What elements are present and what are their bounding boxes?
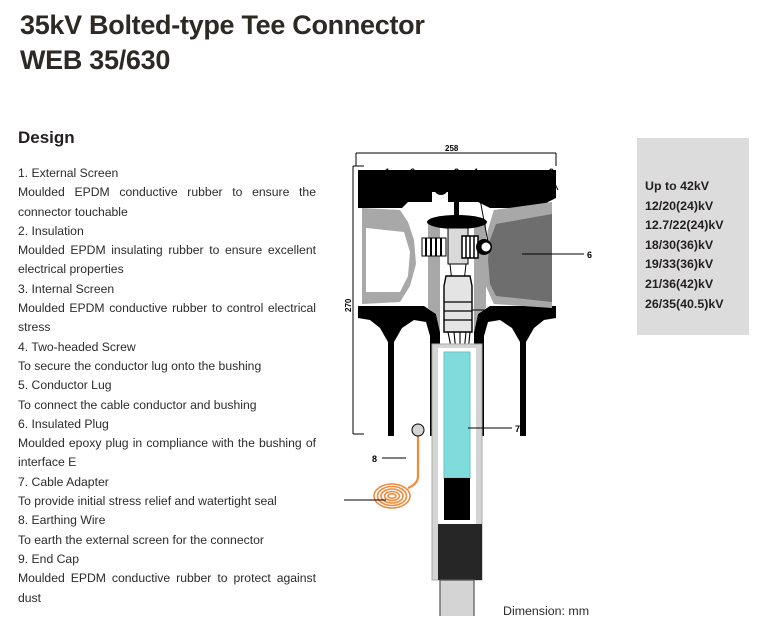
height-dimension-label: 270	[344, 298, 353, 312]
callout-8: 8	[372, 454, 377, 464]
earthing-wire-coil	[374, 484, 410, 508]
list-item: 8. Earthing Wire To earth the external s…	[18, 511, 316, 550]
voltage-rating: 21/36(42)kV	[645, 275, 749, 295]
cable-conductor-block	[444, 478, 470, 520]
datasheet-page: 35kV Bolted-type Tee Connector WEB 35/63…	[0, 0, 760, 634]
list-item-title: 5. Conductor Lug	[18, 376, 316, 395]
connector-cross-section-diagram: 258 270	[344, 136, 634, 616]
list-item-desc: Moulded EPDM conductive rubber to contro…	[18, 299, 316, 338]
title-line-1: 35kV Bolted-type Tee Connector	[20, 10, 425, 40]
callout-5: 5	[533, 306, 538, 316]
list-item: 5. Conductor Lug To connect the cable co…	[18, 376, 316, 415]
callout-1: 1	[385, 167, 390, 177]
cable-insulation-block	[438, 524, 482, 580]
voltage-rating: 12.7/22(24)kV	[645, 216, 749, 236]
voltage-rating: 19/33(36)kV	[645, 255, 749, 275]
callout-2: 2	[410, 167, 415, 177]
cable-sheath	[440, 580, 474, 616]
earthing-wire	[344, 424, 424, 508]
callout-6: 6	[587, 250, 592, 260]
list-item-title: 8. Earthing Wire	[18, 511, 316, 530]
list-item-desc: To provide initial stress relief and wat…	[18, 492, 316, 511]
list-item-title: 4. Two-headed Screw	[18, 338, 316, 357]
list-item-desc: To secure the conductor lug onto the bus…	[18, 357, 316, 376]
cable-core	[444, 352, 470, 478]
list-item: 6. Insulated Plug Moulded epoxy plug in …	[18, 415, 316, 473]
list-item-title: 2. Insulation	[18, 222, 316, 241]
list-item-title: 1. External Screen	[18, 164, 316, 183]
list-item-desc: Moulded EPDM conductive rubber to protec…	[18, 569, 316, 608]
list-item: 7. Cable Adapter To provide initial stre…	[18, 473, 316, 512]
callout-9: 9	[549, 167, 554, 177]
cable-assembly	[432, 344, 482, 616]
list-item: 1. External Screen Moulded EPDM conducti…	[18, 164, 316, 222]
design-list: 1. External Screen Moulded EPDM conducti…	[18, 164, 316, 608]
list-item-desc: To earth the external screen for the con…	[18, 531, 316, 550]
voltage-ratings-list: Up to 42kV 12/20(24)kV 12.7/22(24)kV 18/…	[645, 177, 749, 314]
void-left	[366, 228, 410, 292]
list-item-title: 7. Cable Adapter	[18, 473, 316, 492]
dimension-caption: Dimension: mm	[503, 604, 589, 618]
list-item: 9. End Cap Moulded EPDM conductive rubbe…	[18, 550, 316, 608]
voltage-heading: Up to 42kV	[645, 177, 749, 197]
list-item-desc: Moulded EPDM insulating rubber to ensure…	[18, 241, 316, 280]
design-heading: Design	[18, 128, 75, 148]
list-item: 2. Insulation Moulded EPDM insulating ru…	[18, 222, 316, 280]
voltage-rating: 12/20(24)kV	[645, 197, 749, 217]
screw-head-left	[434, 181, 448, 195]
title-line-2: WEB 35/630	[20, 43, 620, 78]
list-item-desc: Moulded EPDM conductive rubber to ensure…	[18, 183, 316, 222]
voltage-rating: 18/30(36)kV	[645, 236, 749, 256]
callout-3: 3	[454, 167, 459, 177]
callout-4: 4	[473, 167, 478, 177]
callout-7: 7	[515, 424, 520, 434]
list-item: 3. Internal Screen Moulded EPDM conducti…	[18, 280, 316, 338]
list-item-title: 9. End Cap	[18, 550, 316, 569]
list-item-title: 6. Insulated Plug	[18, 415, 316, 434]
list-item-desc: Moulded epoxy plug in compliance with th…	[18, 434, 316, 473]
list-item: 4. Two-headed Screw To secure the conduc…	[18, 338, 316, 377]
page-title: 35kV Bolted-type Tee Connector WEB 35/63…	[20, 8, 620, 78]
list-item-title: 3. Internal Screen	[18, 280, 316, 299]
width-dimension-label: 258	[445, 144, 459, 153]
list-item-desc: To connect the cable conductor and bushi…	[18, 396, 316, 415]
voltage-rating: 26/35(40.5)kV	[645, 295, 749, 315]
